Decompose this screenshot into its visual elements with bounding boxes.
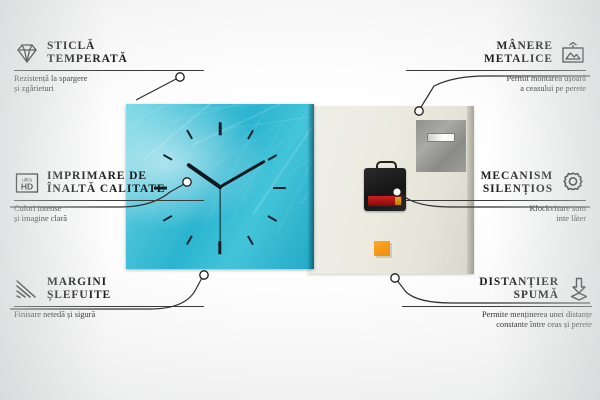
clock-mechanism-box [364,168,406,211]
callout-subtitle-line1: Permite menținerea unei distanțe [402,310,592,320]
second-hand [219,187,220,243]
hanger-keyhole-slot [427,133,455,142]
diamond-icon [14,40,40,66]
callout-title-line2: TEMPERATĂ [47,53,128,66]
callout-subtitle-line1: Finisare netedă și sigură [14,310,204,320]
mechanism-hanging-loop [376,161,397,172]
callout-title-line1: MECANISM [481,170,553,183]
callout-tempered-glass: STICLĂ TEMPERATĂ Rezistență la spargere … [14,40,204,94]
callout-subtitle-line2: a ceasului pe perete [406,84,586,94]
gear-icon [560,170,586,196]
polished-edges-icon [14,276,40,302]
callout-subtitle-line2: inte låter [406,214,586,224]
callout-metal-hangers: MÂNERE METALICE Permit montarea ușoară a… [406,40,586,94]
callout-subtitle-line1: Rezistență la spargere [14,74,204,84]
callout-title-line1: DISTANȚIER [479,276,559,289]
callout-title-line1: MÂNERE [484,40,553,53]
ultra-hd-icon: ultra HD [14,170,40,196]
callout-polished-edges: MARGINI ȘLEFUITE Finisare netedă și sigu… [14,276,204,320]
svg-text:HD: HD [21,181,33,191]
callout-rule [402,306,592,307]
foam-spacer-pad [374,241,390,256]
callout-rule [406,200,586,201]
callout-subtitle-line2: constante între ceas și perete [402,320,592,330]
callout-title-line2: ȘLEFUITE [47,289,111,302]
down-arrow-pad-icon [566,276,592,302]
callout-title-line1: MARGINI [47,276,111,289]
callout-subtitle-line2: și imagine clară [14,214,204,224]
callout-rule [14,306,204,307]
callout-subtitle-line1: Culori intense [14,204,204,214]
callout-foam-spacer: DISTANȚIER SPUMĂ Permite menținerea unei… [402,276,592,330]
callout-high-quality-print: ultra HD IMPRIMARE DE ÎNALTĂ CALITATE Cu… [14,170,204,224]
callout-rule [14,70,204,71]
callout-title-line1: STICLĂ [47,40,128,53]
callout-title-line1: IMPRIMARE DE [47,170,165,183]
callout-subtitle-line2: și zgârieturi [14,84,204,94]
callout-rule [406,70,586,71]
callout-title-line2: SPUMĂ [479,289,559,302]
center-cap [218,185,222,189]
wall-hanger-icon [560,40,586,66]
infographic-canvas: STICLĂ TEMPERATĂ Rezistență la spargere … [0,0,600,400]
callout-rule [14,200,204,201]
metal-hanger-plate [416,120,466,172]
callout-silent-mechanism: MECANISM SILENȚIOS Klockvisare som inte … [406,170,586,224]
callout-subtitle-line1: Permit montarea ușoară [406,74,586,84]
callout-title-line2: ÎNALTĂ CALITATE [47,183,165,196]
callout-title-line2: METALICE [484,53,553,66]
callout-subtitle-line1: Klockvisare som [406,204,586,214]
callout-title-line2: SILENȚIOS [481,183,553,196]
battery [368,196,402,206]
